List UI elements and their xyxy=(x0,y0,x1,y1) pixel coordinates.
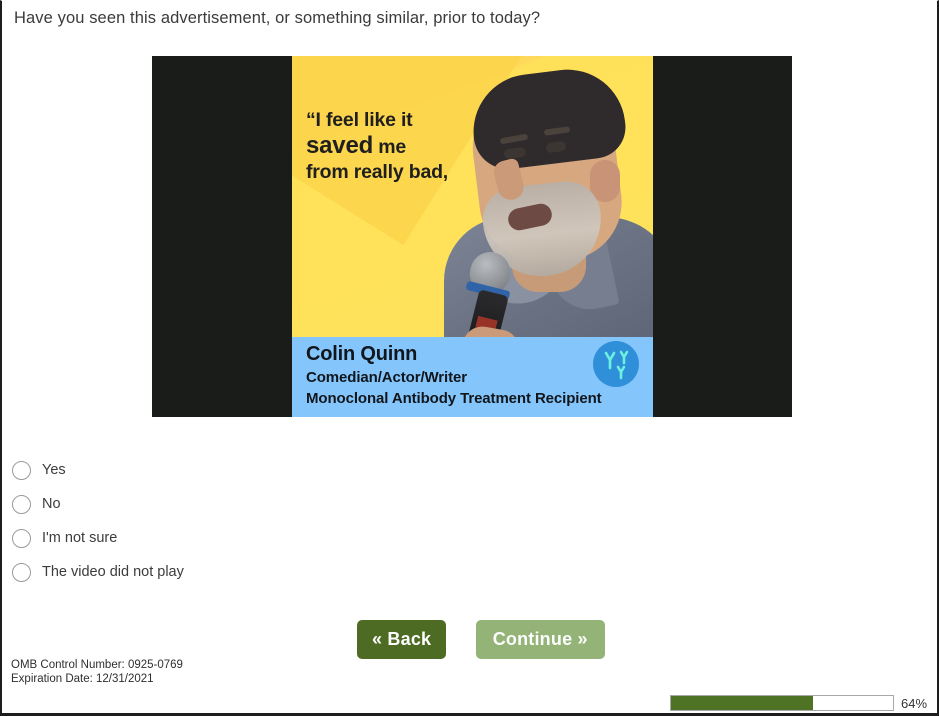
navigation-buttons: « Back Continue » xyxy=(357,620,605,659)
survey-page: Have you seen this advertisement, or som… xyxy=(0,0,939,716)
radio-icon[interactable] xyxy=(12,495,31,514)
progress-bar-track xyxy=(670,695,894,711)
advertisement-video[interactable]: “I feel like it saved me from really bad… xyxy=(152,56,792,417)
antibody-icon xyxy=(593,341,639,387)
option-label: The video did not play xyxy=(42,563,184,581)
back-button[interactable]: « Back xyxy=(357,620,446,659)
progress-percent-label: 64% xyxy=(901,696,927,711)
progress-indicator: 64% xyxy=(670,695,927,711)
option-label: I'm not sure xyxy=(42,529,117,547)
quote-line-3: from really bad, xyxy=(306,161,448,183)
progress-bar-fill xyxy=(671,696,813,710)
advertisement-quote: “I feel like it saved me from really bad… xyxy=(306,108,496,185)
option-label: No xyxy=(42,495,61,513)
quote-line-2-tail: me xyxy=(373,136,406,158)
option-yes[interactable]: Yes xyxy=(12,453,432,487)
option-video-did-not-play[interactable]: The video did not play xyxy=(12,555,432,589)
radio-icon[interactable] xyxy=(12,529,31,548)
omb-control-number: OMB Control Number: 0925-0769 xyxy=(11,658,183,672)
quote-line-1: “I feel like it xyxy=(306,109,412,131)
quote-line-2-emphasis: saved xyxy=(306,132,373,159)
person-name: Colin Quinn xyxy=(306,343,417,366)
person-role: Comedian/Actor/Writer xyxy=(306,369,467,386)
option-not-sure[interactable]: I'm not sure xyxy=(12,521,432,555)
option-no[interactable]: No xyxy=(12,487,432,521)
omb-footer: OMB Control Number: 0925-0769 Expiration… xyxy=(11,658,183,686)
radio-icon[interactable] xyxy=(12,563,31,582)
omb-expiration-date: Expiration Date: 12/31/2021 xyxy=(11,672,183,686)
person-photo xyxy=(442,56,653,337)
advertisement-photo: “I feel like it saved me from really bad… xyxy=(292,56,653,337)
person-description: Monoclonal Antibody Treatment Recipient xyxy=(306,390,602,407)
question-text: Have you seen this advertisement, or som… xyxy=(14,7,914,29)
answer-options: Yes No I'm not sure The video did not pl… xyxy=(12,453,432,589)
advertisement-caption-bar: Colin Quinn Comedian/Actor/Writer Monocl… xyxy=(292,337,653,417)
continue-button[interactable]: Continue » xyxy=(476,620,605,659)
option-label: Yes xyxy=(42,461,66,479)
advertisement-content: “I feel like it saved me from really bad… xyxy=(292,56,653,417)
radio-icon[interactable] xyxy=(12,461,31,480)
